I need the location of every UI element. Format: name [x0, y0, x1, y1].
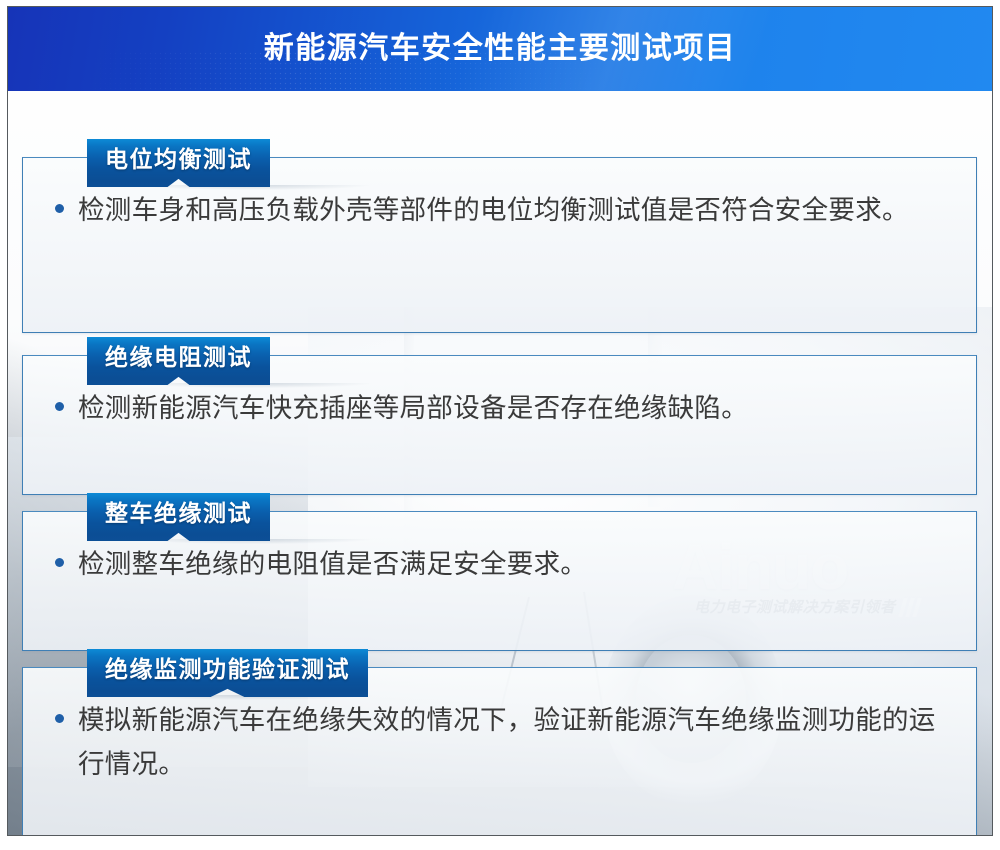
- card-potential-equalization[interactable]: 电位均衡测试 检测车身和高压负载外壳等部件的电位均衡测试值是否符合安全要求。: [22, 157, 977, 333]
- bullet-icon: [55, 558, 64, 567]
- bullet-icon: [55, 714, 64, 723]
- card-text: 检测车身和高压负载外壳等部件的电位均衡测试值是否符合安全要求。: [78, 188, 954, 232]
- bullet-icon: [55, 402, 64, 411]
- card-text: 检测新能源汽车快充插座等局部设备是否存在绝缘缺陷。: [78, 386, 954, 430]
- card-text: 检测整车绝缘的电阻值是否满足安全要求。: [78, 542, 954, 586]
- slide-frame: 新能源汽车安全性能主要测试项目 Ainuo 电力电子测试解决方案引领者 电位均衡…: [7, 6, 993, 836]
- header-bar: 新能源汽车安全性能主要测试项目: [8, 7, 992, 91]
- card-text: 模拟新能源汽车在绝缘失效的情况下，验证新能源汽车绝缘监测功能的运行情况。: [78, 698, 954, 786]
- card-insulation-monitoring-verification[interactable]: 绝缘监测功能验证测试 模拟新能源汽车在绝缘失效的情况下，验证新能源汽车绝缘监测功…: [22, 667, 977, 836]
- card-insulation-resistance[interactable]: 绝缘电阻测试 检测新能源汽车快充插座等局部设备是否存在绝缘缺陷。: [22, 355, 977, 495]
- bullet-icon: [55, 204, 64, 213]
- page-title: 新能源汽车安全性能主要测试项目: [8, 7, 992, 91]
- card-whole-vehicle-insulation[interactable]: 整车绝缘测试 检测整车绝缘的电阻值是否满足安全要求。: [22, 511, 977, 651]
